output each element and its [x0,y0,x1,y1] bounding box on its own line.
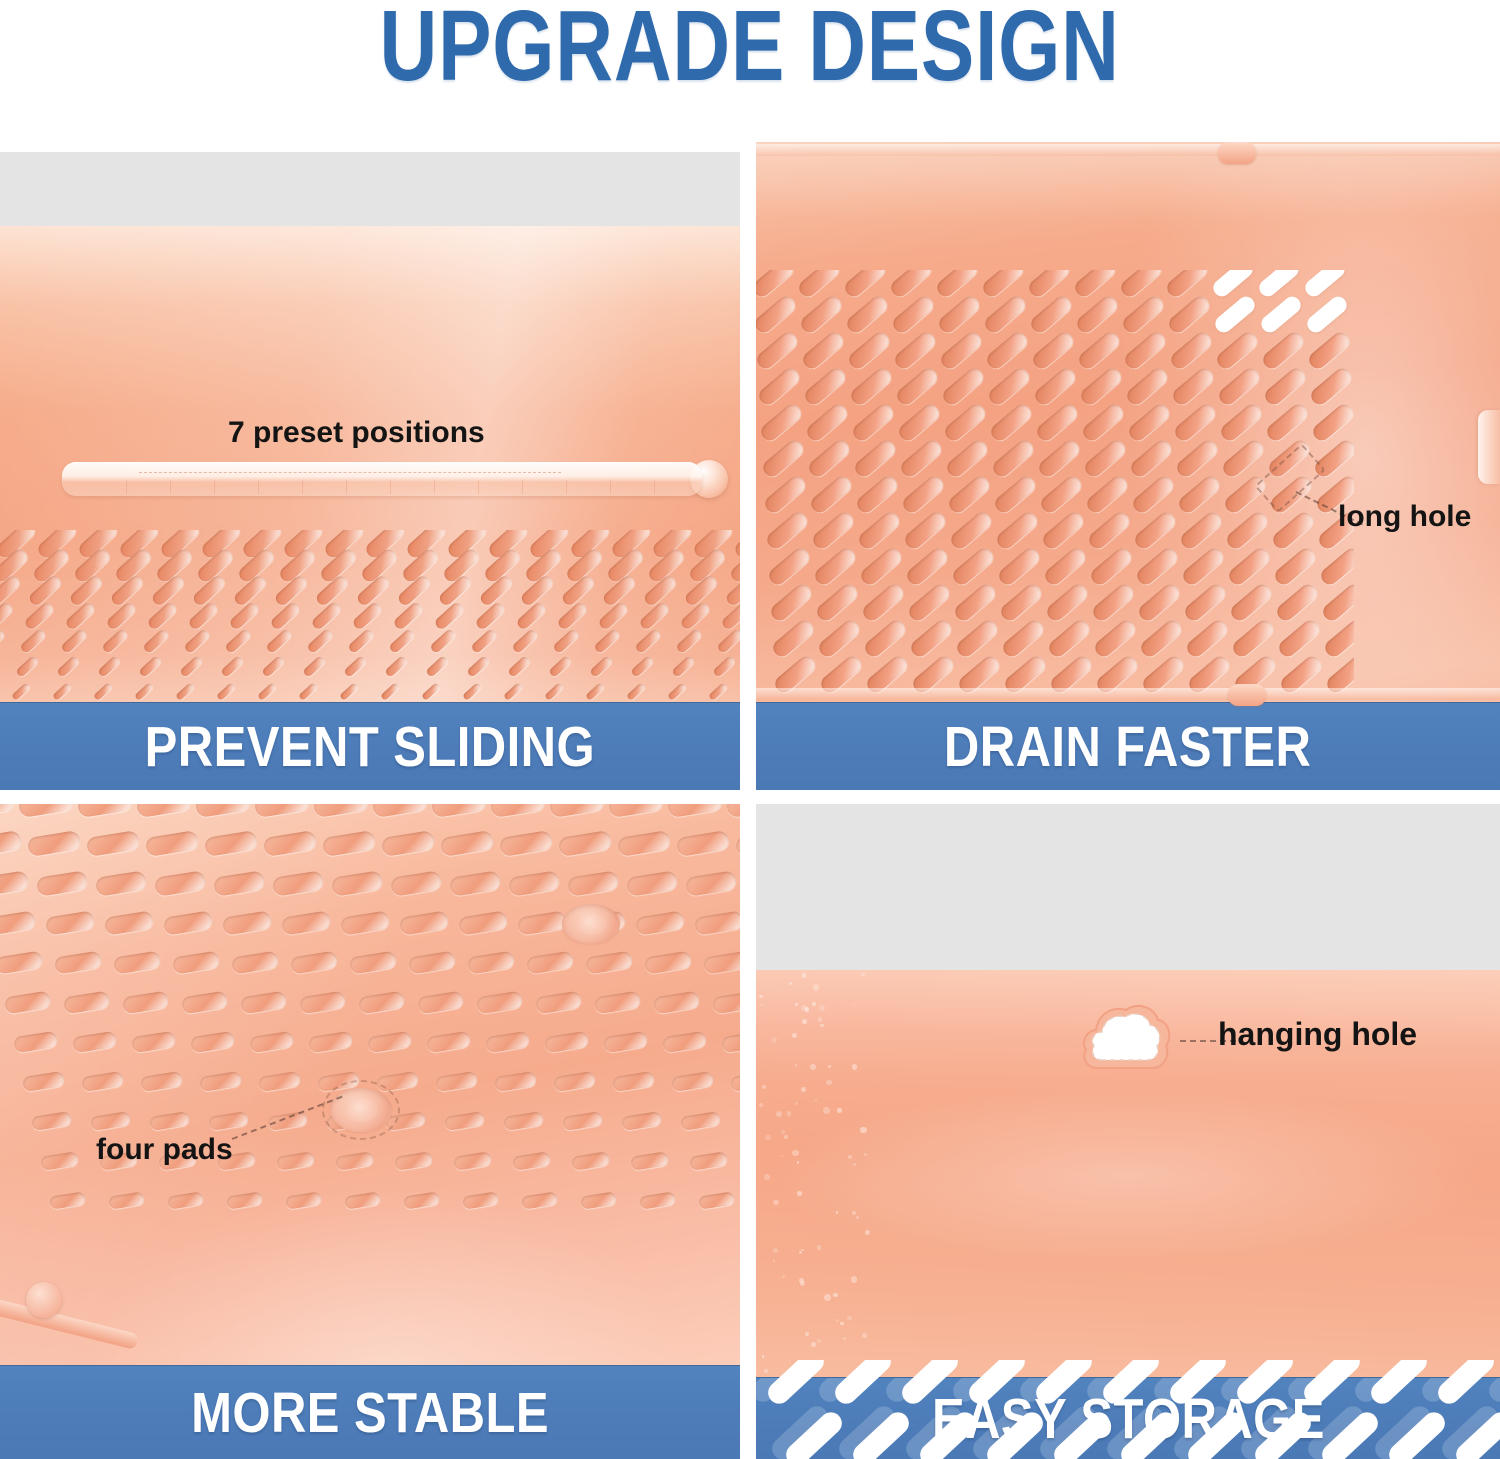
drain-slot [593,628,621,654]
drain-slot [453,1151,492,1170]
caption-label: PREVENT SLIDING [145,718,595,776]
annotation-7-preset-positions: 7 preset positions [228,416,485,450]
drain-slot [585,950,634,974]
drain-slot [1318,1408,1383,1459]
drain-slot [1258,293,1304,336]
drain-slot [571,1151,610,1170]
drain-slot [1036,437,1082,480]
drain-slot [258,1071,301,1092]
drain-slot [63,991,110,1014]
drain-slot [739,1111,740,1131]
perforation-field [0,804,740,1264]
drain-slot [676,830,730,857]
drain-slot [850,401,896,444]
drain-slot [199,1071,242,1092]
drain-slot [1078,365,1124,408]
drain-slot [403,1191,440,1209]
drain-slot [1164,270,1210,300]
hinge-pin-icon [26,1282,62,1318]
drain-slot [1046,617,1092,660]
drain-slot [425,655,449,678]
drain-slot [0,804,15,818]
drain-slot [758,401,804,444]
drain-slot [52,682,72,701]
annotation-long-hole: long hole [1338,500,1471,534]
drain-slot [898,1360,963,1408]
drain-slot [1302,270,1348,300]
drain-slot [31,1111,72,1131]
drain-slot [1126,401,1172,444]
drain-slot [179,655,203,678]
drain-slot [721,1031,740,1053]
drain-slot [1092,617,1138,660]
drain-slot [908,617,954,660]
drain-slot [988,401,1034,444]
drain-slot [900,473,946,516]
drain-slot [982,293,1028,336]
drain-slot [896,401,942,444]
drain-slot [998,581,1044,624]
drain-slot [1264,401,1310,444]
drain-slot [1042,545,1088,588]
drain-slot [1322,617,1354,660]
drain-slot [848,365,894,408]
drain-slot [18,804,74,818]
drain-slot [735,830,740,857]
drain-slot [195,804,251,818]
drain-slot [902,509,948,552]
drain-slot [894,365,940,408]
background-gray-strip [756,804,1500,970]
drain-slot [1088,545,1134,588]
drain-slot [22,1071,65,1092]
drain-slot [854,473,900,516]
drain-slot [290,950,339,974]
drain-slot [594,991,641,1014]
drain-slot [4,991,51,1014]
drain-slot [856,509,902,552]
panel-more-stable: four pads MORE STABLE [0,804,740,1459]
drain-slot [1300,1360,1365,1408]
drain-slot [1178,509,1224,552]
drain-slot [131,1031,176,1053]
drain-slot [816,617,862,660]
drain-slot [149,1111,190,1131]
drain-slot [81,1071,124,1092]
drain-slot [831,1360,896,1408]
drain-slot [23,601,55,631]
drain-slot [208,1111,249,1131]
drain-slot [222,910,273,935]
drain-slot [862,617,908,660]
drain-slot [183,628,211,654]
drain-slot [708,682,728,701]
drain-slot [1166,1360,1231,1408]
drain-slot [1320,581,1354,624]
infographic-page: UPGRADE DESIGN 7 preset positions PREVEN… [0,0,1500,1459]
drain-slot [0,950,43,974]
drain-slot [756,293,798,336]
drain-slot [1074,293,1120,336]
drain-slot [904,545,950,588]
pad-icon [562,904,620,944]
drain-slot [298,682,318,701]
drain-slot [515,601,547,631]
drain-slot [916,1408,981,1459]
drain-slot [261,655,285,678]
drain-slot [612,1071,655,1092]
drain-slot [86,830,140,857]
drain-slot [1080,401,1126,444]
photo-more-stable: four pads MORE STABLE [0,804,740,1459]
drain-slot [372,804,428,818]
drain-slot [521,1191,558,1209]
drain-slot [494,1071,537,1092]
drain-slot [716,628,740,654]
drain-slot [844,293,890,336]
drain-slot [644,950,693,974]
drain-slot [136,804,192,818]
drain-slot [64,601,96,631]
caption-label: DRAIN FASTER [944,718,1311,776]
drain-slot [630,1151,669,1170]
panel-drain-faster: long hole DRAIN FASTER [756,142,1500,790]
drain-slot [476,991,523,1014]
drain-slot [952,581,998,624]
drain-slot [689,1151,728,1170]
drain-slot [384,655,408,678]
drain-slot [508,870,561,896]
drain-slot [1318,545,1354,588]
drain-slot [77,804,133,818]
drain-slot [433,601,465,631]
drain-slot [313,804,369,818]
drain-slot [806,437,852,480]
drain-slot [1168,329,1214,372]
drain-slot [331,870,384,896]
drain-slot [558,830,612,857]
drain-slot [60,628,88,654]
drain-slot [1122,329,1168,372]
basket-top-rim [756,144,1500,156]
drain-slot [1166,293,1212,336]
drain-slot [462,1191,499,1209]
drain-slot [760,437,806,480]
drain-slot [996,545,1042,588]
drain-slot [228,601,260,631]
drain-slot [994,509,1040,552]
panel-easy-storage: hanging hole EASY STORAGE [756,804,1500,1459]
drain-slot [1072,270,1118,300]
drain-slot [163,910,214,935]
drain-slot [72,1031,117,1053]
drain-slot [698,1191,735,1209]
drain-slot [421,682,441,701]
drain-slot [548,655,572,678]
drain-slot [626,682,646,701]
drain-slot [281,910,332,935]
drain-slot [485,1031,530,1053]
drain-slot [517,910,568,935]
drain-slot [1310,401,1354,444]
drain-slot [589,655,613,678]
drain-slot [388,628,416,654]
drain-slot [852,437,898,480]
drain-slot [544,682,564,701]
drain-slot [1136,581,1182,624]
drain-slot [549,804,605,818]
drain-slot [764,1360,829,1408]
drain-slot [503,1111,544,1131]
drain-slot [417,991,464,1014]
drain-slot [1184,1408,1249,1459]
drain-slot [276,1151,315,1170]
drain-slot [720,601,740,631]
drain-slot [712,991,740,1014]
drain-slot [394,1151,433,1170]
drain-slot [756,365,802,408]
drain-slot [934,270,980,300]
drain-slot [798,293,844,336]
drain-slot [732,530,740,561]
annotation-four-pads: four pads [96,1133,233,1167]
drain-slot [431,804,487,818]
drain-slot [306,628,334,654]
drain-slot [1304,293,1350,336]
drain-slot [1084,473,1130,516]
cloud-hole-svg [1078,998,1174,1076]
drain-slot [567,870,620,896]
rail-notches [126,480,664,494]
drain-slot [946,473,992,516]
drain-slot [906,581,952,624]
caption-label: MORE STABLE [191,1384,549,1442]
caption-band-more-stable: MORE STABLE [0,1365,740,1459]
drain-slot [1128,437,1174,480]
drain-slot [0,628,6,654]
drain-slot [299,991,346,1014]
drain-slot [1251,1408,1316,1459]
drain-slot [944,437,990,480]
drain-slot [467,950,516,974]
drain-slot [322,830,376,857]
rim-nub-bottom-icon [1228,684,1266,706]
drain-slot [1214,329,1260,372]
drain-slot [122,991,169,1014]
drain-slot [390,870,443,896]
drain-slot [1385,1408,1450,1459]
drain-slot [938,329,984,372]
drain-slot [808,473,854,516]
drain-slot [556,601,588,631]
drain-slot [1256,270,1302,300]
drain-slot [285,1191,322,1209]
drain-slot [399,910,450,935]
drain-slot [846,329,892,372]
drain-slot [1176,473,1222,516]
drain-slot [1174,437,1220,480]
drain-slot [667,682,687,701]
drain-slot [146,601,178,631]
drain-slot [726,804,740,818]
drain-slot [344,1191,381,1209]
drain-slot [671,655,695,678]
drain-slot [381,830,435,857]
drain-slot [1050,1408,1115,1459]
drain-slot [1224,509,1270,552]
photo-prevent-sliding: 7 preset positions PREVENT SLIDING [0,142,740,790]
drain-slot [1120,293,1166,336]
panel-prevent-sliding: 7 preset positions PREVENT SLIDING [0,142,740,790]
drain-slot [145,830,199,857]
drain-slot [942,401,988,444]
drain-slot [339,682,359,701]
drain-slot [1172,401,1218,444]
photo-drain-faster: long hole DRAIN FASTER [756,142,1500,790]
drain-slot [175,682,195,701]
drain-slot [1260,329,1306,372]
drain-slot [630,655,654,678]
drain-slot [703,950,740,974]
drain-slot [782,1408,847,1459]
drain-slot [113,950,162,974]
drain-slot [936,293,982,336]
drain-slot [1170,365,1216,408]
perforation-field [0,530,740,710]
drain-slot [562,1111,603,1131]
caption-band-prevent-sliding: PREVENT SLIDING [0,702,740,790]
drain-slot [1180,545,1226,588]
drain-slot [1228,581,1274,624]
drain-slot [1038,473,1084,516]
drain-slot [190,1031,235,1053]
drain-slot [770,617,816,660]
drain-slot [849,1408,914,1459]
drain-slot [1032,1360,1097,1408]
drain-slot [90,1111,131,1131]
drain-slot [0,601,14,631]
drain-slot [597,601,629,631]
drain-slot [36,870,89,896]
drain-slot [984,329,1030,372]
drain-slot [1226,545,1272,588]
drain-slot [948,509,994,552]
drain-slot [965,1360,1030,1408]
drain-slot [1230,617,1276,660]
drain-slot [351,601,383,631]
drain-slot [1026,270,1072,300]
drain-slot [621,1111,662,1131]
drain-slot [15,655,39,678]
drain-slot [1082,437,1128,480]
drain-slot [1138,617,1184,660]
drain-slot [814,581,860,624]
drain-slot [1124,365,1170,408]
drain-slot [535,991,582,1014]
header: UPGRADE DESIGN [0,0,1500,142]
drain-slot [1118,270,1164,300]
drain-slot [685,870,738,896]
drain-slot [796,270,842,300]
drain-slot [1216,365,1262,408]
drain-slot [272,870,325,896]
drain-slot [639,1191,676,1209]
drain-slot [45,910,96,935]
side-tab-icon [1478,410,1500,484]
drain-slot [810,509,856,552]
drain-slot [1210,270,1256,300]
drain-slot [1452,1408,1500,1459]
drain-slot [108,1191,145,1209]
drain-slot [343,655,367,678]
drain-slot [675,628,703,654]
drain-slot [764,509,810,552]
drain-slot [858,545,904,588]
drain-slot [892,329,938,372]
drain-slot [888,270,934,300]
drain-slot [240,991,287,1014]
drain-slot [603,1031,648,1053]
drain-slot [804,401,850,444]
drain-slot [634,628,662,654]
drain-slot [766,545,812,588]
drain-slot [980,270,1026,300]
drain-slot [662,1031,707,1053]
drain-slot [11,682,31,701]
drain-slot [992,473,1038,516]
drain-slot [511,628,539,654]
drain-slot [1030,329,1076,372]
drain-slot [552,628,580,654]
drain-slot [1086,509,1132,552]
drain-slot [1274,581,1320,624]
drain-slot [310,601,342,631]
drain-slot [1076,329,1122,372]
drain-slot [444,1111,485,1131]
drain-slot [490,804,546,818]
drain-slot [1034,401,1080,444]
drain-slot [860,581,906,624]
drain-slot [1220,437,1266,480]
drain-slot [608,804,664,818]
drain-slot [890,293,936,336]
drain-slot [667,804,723,818]
drain-slot [257,682,277,701]
drain-slot [653,991,700,1014]
drain-slot [101,628,129,654]
drain-slot [1090,581,1136,624]
drain-slot [898,437,944,480]
drain-slot [56,655,80,678]
drain-slot [249,1031,294,1053]
drain-slot [335,1151,374,1170]
page-title: UPGRADE DESIGN [380,0,1120,98]
drain-slot [27,830,81,857]
drain-slot [154,870,207,896]
annotation-hanging-hole: hanging hole [1218,1016,1417,1053]
drain-slot [1367,1360,1432,1408]
drain-slot [762,473,808,516]
drain-slot [1130,473,1176,516]
drain-slot [216,682,236,701]
drain-slot [408,950,457,974]
drain-slot [756,329,800,372]
cloud-hole-icon [1078,998,1174,1076]
drain-slot [0,870,29,896]
drain-slot [1184,617,1230,660]
drain-slot [812,545,858,588]
drain-slot [140,1071,183,1092]
